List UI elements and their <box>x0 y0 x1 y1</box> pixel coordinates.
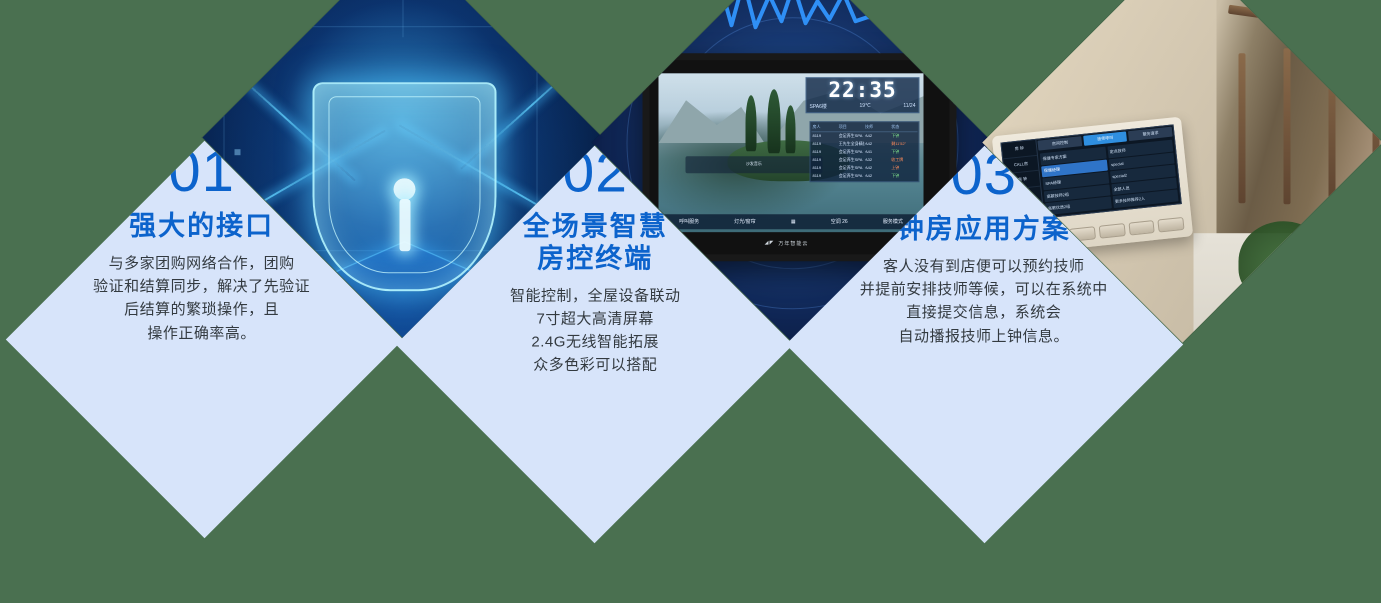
clock-time: 22:35 <box>810 80 916 101</box>
panel-list-right[interactable]: 定点技师 special special2 全部人员 更多技师推荐2人 <box>1107 139 1178 207</box>
bottom-control-3[interactable]: 服务模式 <box>883 218 903 225</box>
card-3-description: 客人没有到店便可以预约技师 并提前安排技师等候，可以在系统中 直接提交信息，系统… <box>860 254 1108 347</box>
clock-temperature: 19℃ <box>860 103 871 110</box>
table-row: 8119会足养生SPAA41下钟 <box>812 148 918 156</box>
table-row: 8119会足养生SPAA42上钟 <box>812 164 918 172</box>
table-row: 8119会足养生SPAA32收工牌 <box>812 156 918 164</box>
panel-button-3[interactable] <box>1099 222 1126 238</box>
table-row: 8119会足养生SPAA42下钟 <box>812 132 918 140</box>
heartbeat-icon <box>678 0 908 35</box>
lock-key-stem <box>400 198 411 250</box>
card-2-description: 智能控制，全屋设备联动 7寸超大高清屏幕 2.4G无线智能拓展 众多色彩可以搭配 <box>510 284 681 377</box>
table-row: 8119王先生全身精护A42剩11'52" <box>812 140 918 148</box>
card-1-title: 强大的接口 <box>129 210 274 242</box>
technician-status-table: 房人 项目 技师 状态 8119会足养生SPAA42下钟8119王先生全身精护A… <box>810 121 920 182</box>
table-row: 8119会足养生SPAA42下钟 <box>812 172 918 180</box>
terminal-bottom-bar[interactable]: 呼叫服务 灯光/窗帘 ▦ 空调 26 服务模式 <box>662 214 921 229</box>
bottom-control-0[interactable]: 呼叫服务 <box>679 218 699 225</box>
card-1-description: 与多家团购网络合作，团购 验证和结算同步，解决了先验证 后结算的繁琐操作，且 操… <box>93 251 310 344</box>
clock-date: 11/24 <box>903 103 915 110</box>
media-control-bar[interactable]: 沙发音乐 <box>685 155 823 172</box>
terminal-screen: 沙发音乐 22:35 SPA6楼 19℃ 11/24 房人 项目 <box>659 73 924 232</box>
brand-mark-icon: ◢◤ <box>765 240 775 246</box>
table-body: 8119会足养生SPAA42下钟8119王先生全身精护A42剩11'52"811… <box>812 132 918 180</box>
bottom-control-1[interactable]: 灯光/窗帘 <box>734 218 755 225</box>
media-caption: 沙发音乐 <box>746 161 762 167</box>
panel-button-4[interactable] <box>1128 219 1155 235</box>
card-3-title: 钟房应用方案 <box>897 213 1071 245</box>
lock-keyhole-icon <box>394 178 416 200</box>
infographic-stage: 沙发音乐 22:35 SPA6楼 19℃ 11/24 房人 项目 <box>0 0 1381 603</box>
brand-text: 万年智能云 <box>778 239 808 246</box>
panel-button-5[interactable] <box>1158 216 1185 232</box>
clock-zone: SPA6楼 <box>810 102 827 109</box>
apps-grid-icon[interactable]: ▦ <box>791 218 796 224</box>
table-header: 房人 项目 技师 状态 <box>812 123 918 132</box>
corridor-floor <box>1194 232 1381 344</box>
bottom-control-2[interactable]: 空调 26 <box>831 218 848 225</box>
card-2-title: 全场景智慧 房控终端 <box>523 211 668 275</box>
clock-widget: 22:35 SPA6楼 19℃ 11/24 <box>806 77 920 113</box>
panel-list-left[interactable]: 保健专家方案 保健经理 SPA经理 高薪技师2组 高薪优质2组 <box>1040 146 1111 214</box>
shield-icon <box>313 82 497 291</box>
